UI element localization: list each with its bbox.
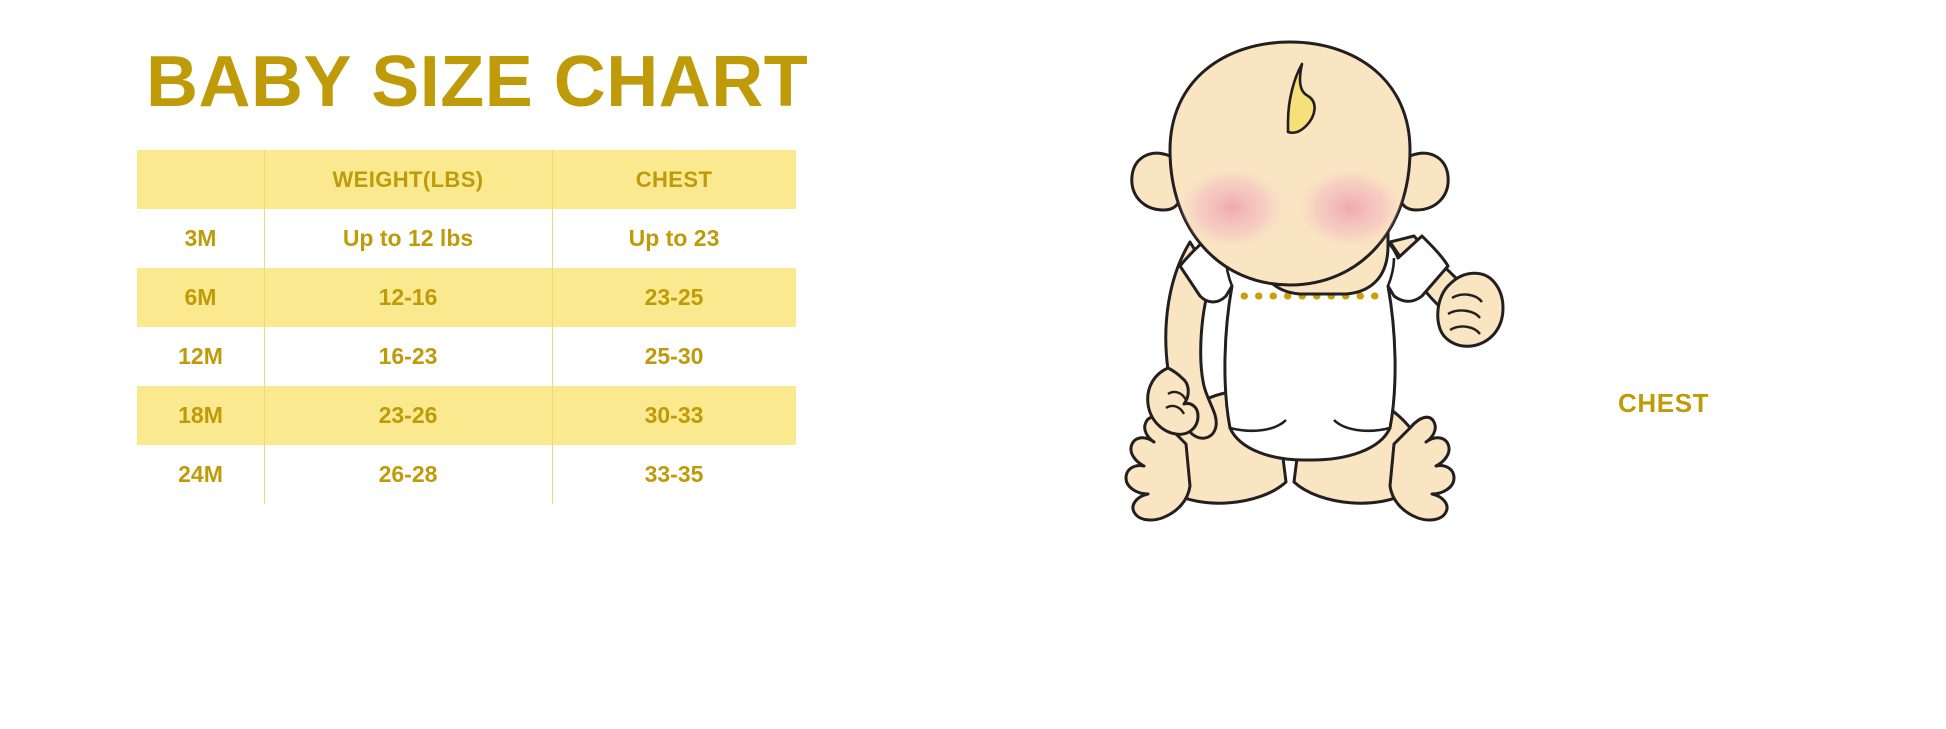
column-header-weight: WEIGHT(LBS) bbox=[264, 150, 552, 209]
column-divider-2 bbox=[552, 150, 553, 504]
cell-weight: 12-16 bbox=[264, 268, 552, 327]
cell-chest: Up to 23 bbox=[552, 209, 796, 268]
column-header-chest: CHEST bbox=[552, 150, 796, 209]
cell-chest: 33-35 bbox=[552, 445, 796, 504]
cell-size: 3M bbox=[137, 209, 264, 268]
baby-left-blush bbox=[1174, 164, 1290, 252]
column-divider-1 bbox=[264, 150, 265, 504]
table-header: WEIGHT(LBS) CHEST bbox=[137, 150, 796, 209]
table-row: 6M 12-16 23-25 bbox=[137, 268, 796, 327]
cell-chest: 30-33 bbox=[552, 386, 796, 445]
cell-chest: 23-25 bbox=[552, 268, 796, 327]
cell-weight: Up to 12 lbs bbox=[264, 209, 552, 268]
cell-weight: 23-26 bbox=[264, 386, 552, 445]
table-row: 12M 16-23 25-30 bbox=[137, 327, 796, 386]
sitting-baby-illustration bbox=[1050, 30, 1610, 530]
baby-right-blush bbox=[1292, 164, 1408, 252]
cell-weight: 16-23 bbox=[264, 327, 552, 386]
table-row: 24M 26-28 33-35 bbox=[137, 445, 796, 504]
cell-size: 18M bbox=[137, 386, 264, 445]
cell-chest: 25-30 bbox=[552, 327, 796, 386]
size-table: WEIGHT(LBS) CHEST 3M Up to 12 lbs Up to … bbox=[137, 150, 796, 504]
chest-measurement-label: CHEST bbox=[1618, 388, 1709, 419]
page-title: BABY SIZE CHART bbox=[146, 46, 808, 118]
table-row: 18M 23-26 30-33 bbox=[137, 386, 796, 445]
baby-head bbox=[1170, 42, 1410, 285]
cell-weight: 26-28 bbox=[264, 445, 552, 504]
size-chart-panel: BABY SIZE CHART WEIGHT(LBS) CHEST 3M Up … bbox=[0, 0, 980, 729]
baby-size-chart-page: BABY SIZE CHART WEIGHT(LBS) CHEST 3M Up … bbox=[0, 0, 1946, 729]
cell-size: 6M bbox=[137, 268, 264, 327]
table-header-row: WEIGHT(LBS) CHEST bbox=[137, 150, 796, 209]
table-row: 3M Up to 12 lbs Up to 23 bbox=[137, 209, 796, 268]
cell-size: 12M bbox=[137, 327, 264, 386]
cell-size: 24M bbox=[137, 445, 264, 504]
table-body: 3M Up to 12 lbs Up to 23 6M 12-16 23-25 … bbox=[137, 209, 796, 504]
column-header-size bbox=[137, 150, 264, 209]
